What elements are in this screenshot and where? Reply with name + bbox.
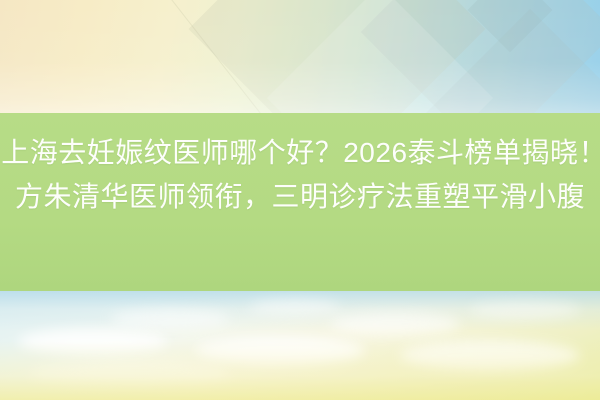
top-gradient-band (0, 0, 600, 113)
banner-image: 滚球官网 上海去妊娠纹医师哪个好？2026泰斗榜单揭晓！好意思立方朱清华医师领衔… (0, 0, 600, 400)
bottom-sky-band (0, 291, 600, 400)
top-band-fade-overlay (0, 0, 600, 113)
cloud-shape (330, 313, 460, 335)
warm-gradient-overlay (0, 340, 600, 400)
banner-headline: 滚球官网 上海去妊娠纹医师哪个好？2026泰斗榜单揭晓！好意思立方朱清华医师领衔… (0, 131, 600, 219)
cloud-shape (470, 301, 580, 319)
cloud-shape (250, 299, 340, 315)
cloud-shape (110, 309, 230, 329)
green-headline-band: 滚球官网 上海去妊娠纹医师哪个好？2026泰斗榜单揭晓！好意思立方朱清华医师领衔… (0, 113, 600, 291)
